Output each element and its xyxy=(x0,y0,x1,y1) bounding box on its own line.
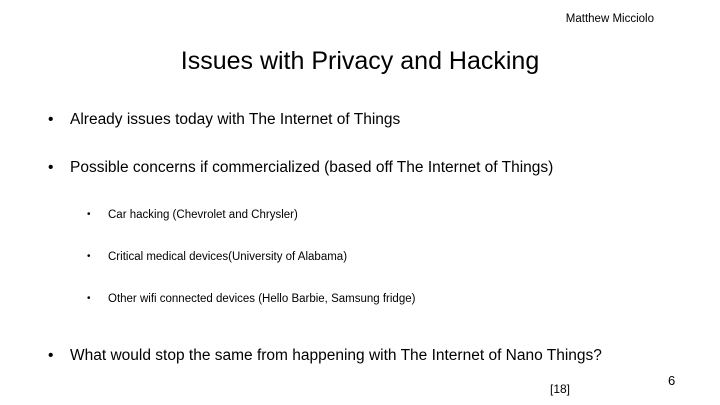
bullet-dot-icon: • xyxy=(87,284,91,314)
bullet-item: • What would stop the same from happenin… xyxy=(0,340,720,372)
bullet-dot-icon: • xyxy=(87,200,91,230)
sub-bullet-item: • Critical medical devices(University of… xyxy=(0,242,720,272)
sub-bullet-text: Car hacking (Chevrolet and Chrysler) xyxy=(108,200,680,230)
sub-bullet-item: • Car hacking (Chevrolet and Chrysler) xyxy=(0,200,720,230)
bullet-text: What would stop the same from happening … xyxy=(70,340,680,372)
slide-canvas: Matthew Micciolo Issues with Privacy and… xyxy=(0,0,720,405)
slide-title: Issues with Privacy and Hacking xyxy=(0,46,720,76)
bullet-text: Possible concerns if commercialized (bas… xyxy=(70,152,680,184)
sub-bullet-text: Critical medical devices(University of A… xyxy=(108,242,680,272)
sub-bullet-item: • Other wifi connected devices (Hello Ba… xyxy=(0,284,720,314)
bullet-dot-icon: • xyxy=(48,152,53,184)
slide-body: • Already issues today with The Internet… xyxy=(0,104,720,388)
bullet-dot-icon: • xyxy=(48,340,53,372)
citation-reference: [18] xyxy=(550,381,570,397)
bullet-dot-icon: • xyxy=(87,242,91,272)
bullet-text: Already issues today with The Internet o… xyxy=(70,104,680,136)
list-spacer xyxy=(0,326,720,340)
bullet-item: • Possible concerns if commercialized (b… xyxy=(0,152,720,184)
bullet-item: • Already issues today with The Internet… xyxy=(0,104,720,136)
bullet-dot-icon: • xyxy=(48,104,53,136)
author-name: Matthew Micciolo xyxy=(566,12,654,26)
page-number: 6 xyxy=(668,373,675,389)
sub-bullet-text: Other wifi connected devices (Hello Barb… xyxy=(108,284,680,314)
